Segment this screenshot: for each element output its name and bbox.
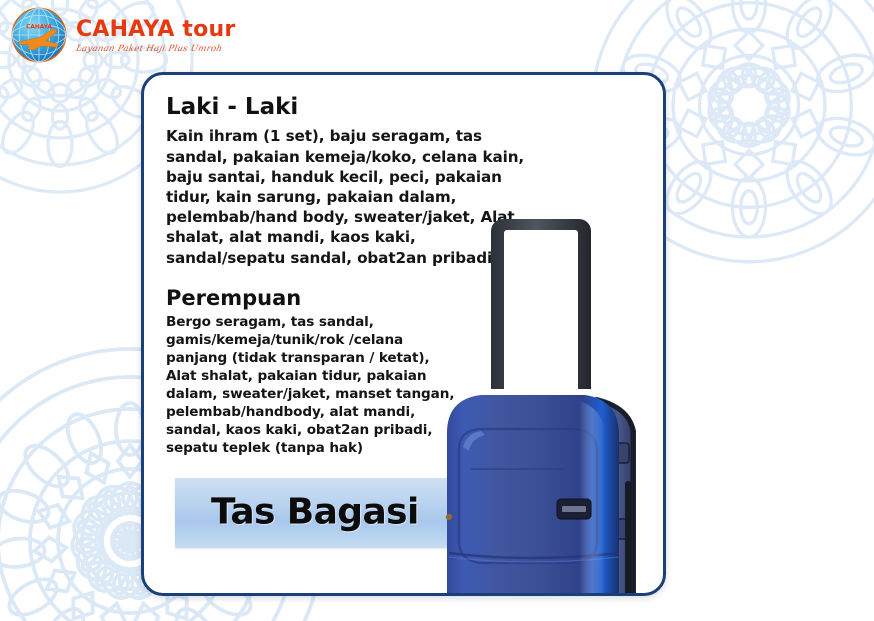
content-card: Laki - Laki Kain ihram (1 set), baju ser… xyxy=(141,72,666,596)
brand-logo: CAHAYA tour CAHAYA tour Layanan Paket Ha… xyxy=(10,6,235,64)
suitcase-icon xyxy=(429,201,666,596)
brand-name-sub: tour xyxy=(182,17,235,42)
section-body-perempuan: Bergo seragam, tas sandal, gamis/kemeja/… xyxy=(166,313,462,458)
tas-bagasi-label: Tas Bagasi xyxy=(211,492,419,533)
card-inner: Laki - Laki Kain ihram (1 set), baju ser… xyxy=(144,75,663,593)
section-title-laki-laki: Laki - Laki xyxy=(166,95,476,120)
brand-wordmark: CAHAYA tour Layanan Paket Haji Plus Umro… xyxy=(76,17,235,54)
globe-airplane-icon: CAHAYA tour xyxy=(10,6,68,64)
suitcase-brand-badge xyxy=(557,499,591,519)
poster-canvas: CAHAYA tour CAHAYA tour Layanan Paket Ha… xyxy=(0,0,874,621)
brand-name: CAHAYA tour xyxy=(76,19,235,41)
tas-bagasi-banner: Tas Bagasi xyxy=(175,478,455,548)
brand-name-main: CAHAYA xyxy=(76,17,175,42)
brand-tagline: Layanan Paket Haji Plus Umroh xyxy=(75,44,237,54)
suitcase-handle xyxy=(491,219,591,389)
